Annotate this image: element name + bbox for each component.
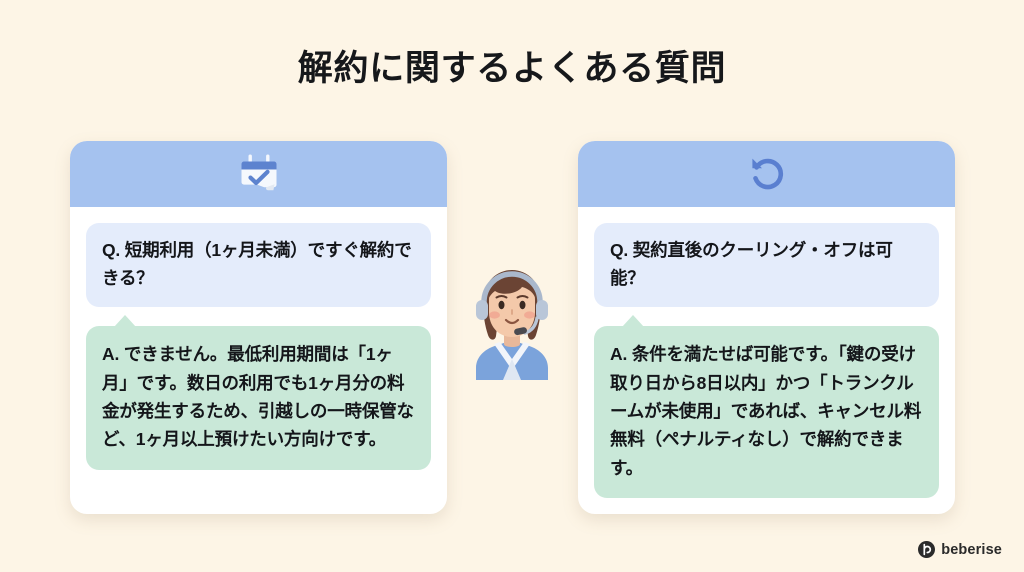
faq-card-1-body: Q. 短期利用（1ヶ月未満）ですぐ解約できる？ A. できません。最低利用期間は… (70, 207, 447, 514)
faq-card-2-question: Q. 契約直後のクーリング・オフは可能？ (594, 223, 939, 307)
faq-card-1: Q. 短期利用（1ヶ月未満）ですぐ解約できる？ A. できません。最低利用期間は… (70, 141, 447, 514)
faq-card-1-answer-wrap: A. できません。最低利用期間は「1ヶ月」です。数日の利用でも1ヶ月分の料金が発… (86, 326, 431, 469)
faq-card-2-body: Q. 契約直後のクーリング・オフは可能？ A. 条件を満たせば可能です。「鍵の受… (578, 207, 955, 514)
brand-logo: beberise (918, 541, 1002, 558)
beberise-b-mark-icon (918, 541, 935, 558)
faq-card-2-answer-wrap: A. 条件を満たせば可能です。「鍵の受け取り日から8日以内」かつ「トランクルーム… (594, 326, 939, 498)
call-center-operator-avatar (466, 258, 558, 380)
answer-bubble-tail (622, 315, 644, 327)
rotate-counterclockwise-icon (743, 148, 791, 201)
page-title: 解約に関するよくある質問 (0, 48, 1024, 90)
faq-card-1-answer: A. できません。最低利用期間は「1ヶ月」です。数日の利用でも1ヶ月分の料金が発… (86, 326, 431, 469)
faq-card-2-header (578, 141, 955, 207)
calendar-check-icon (235, 148, 283, 201)
faq-card-1-question: Q. 短期利用（1ヶ月未満）ですぐ解約できる？ (86, 223, 431, 307)
answer-bubble-tail (114, 315, 136, 327)
faq-card-2-answer: A. 条件を満たせば可能です。「鍵の受け取り日から8日以内」かつ「トランクルーム… (594, 326, 939, 498)
faq-card-2: Q. 契約直後のクーリング・オフは可能？ A. 条件を満たせば可能です。「鍵の受… (578, 141, 955, 514)
brand-logo-text: beberise (941, 542, 1002, 558)
faq-card-1-header (70, 141, 447, 207)
